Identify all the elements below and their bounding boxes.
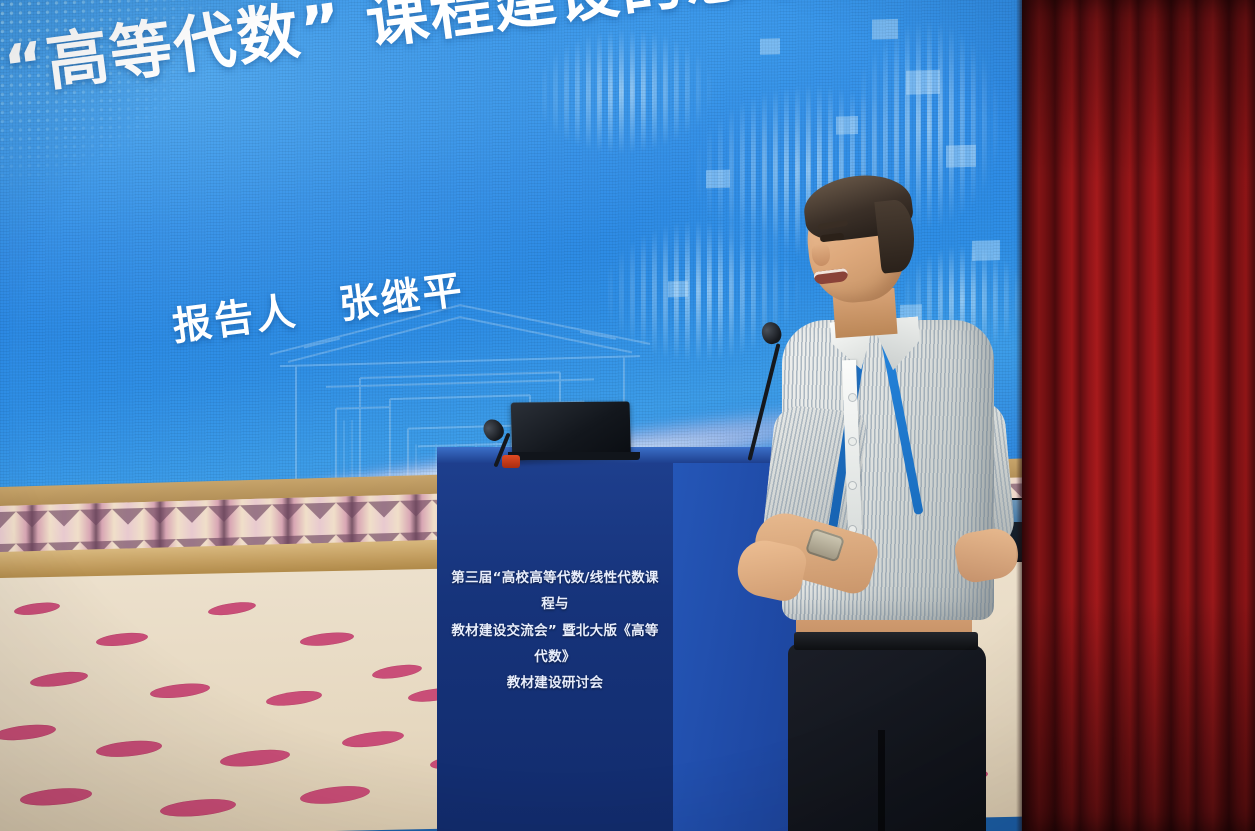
lectern-sign-line-2: 教材建设交流会” 暨北大版《高等代数》: [445, 618, 665, 671]
mosaic-square: [836, 116, 858, 135]
trouser-leg-seam: [878, 730, 885, 831]
shirt-button: [849, 438, 856, 445]
mosaic-square: [872, 19, 898, 40]
laptop-base: [508, 452, 640, 460]
right-hand: [952, 525, 1022, 585]
stage-curtain: [1022, 0, 1255, 831]
conference-photo-scene: “高等代数” 课程建设的思考 报告人 张继平: [0, 0, 1255, 831]
mosaic-square: [706, 170, 730, 189]
mosaic-square: [906, 70, 940, 95]
mosaic-square: [760, 38, 780, 55]
microphone-base: [502, 455, 520, 468]
shirt-button: [849, 482, 856, 489]
lectern-sign: 第三届“高校高等代数/线性代数课程与 教材建设交流会” 暨北大版《高等代数》 教…: [445, 565, 665, 697]
mosaic-square: [946, 145, 976, 168]
belt: [794, 632, 978, 650]
trousers: [788, 644, 986, 831]
lectern-sign-line-1: 第三届“高校高等代数/线性代数课程与: [445, 565, 665, 618]
speaker-person: [760, 170, 1030, 831]
shirt-button: [849, 394, 856, 401]
lectern-sign-line-3: 教材建设研讨会: [445, 670, 665, 696]
lectern-front-panel: 第三届“高校高等代数/线性代数课程与 教材建设交流会” 暨北大版《高等代数》 教…: [437, 455, 673, 831]
